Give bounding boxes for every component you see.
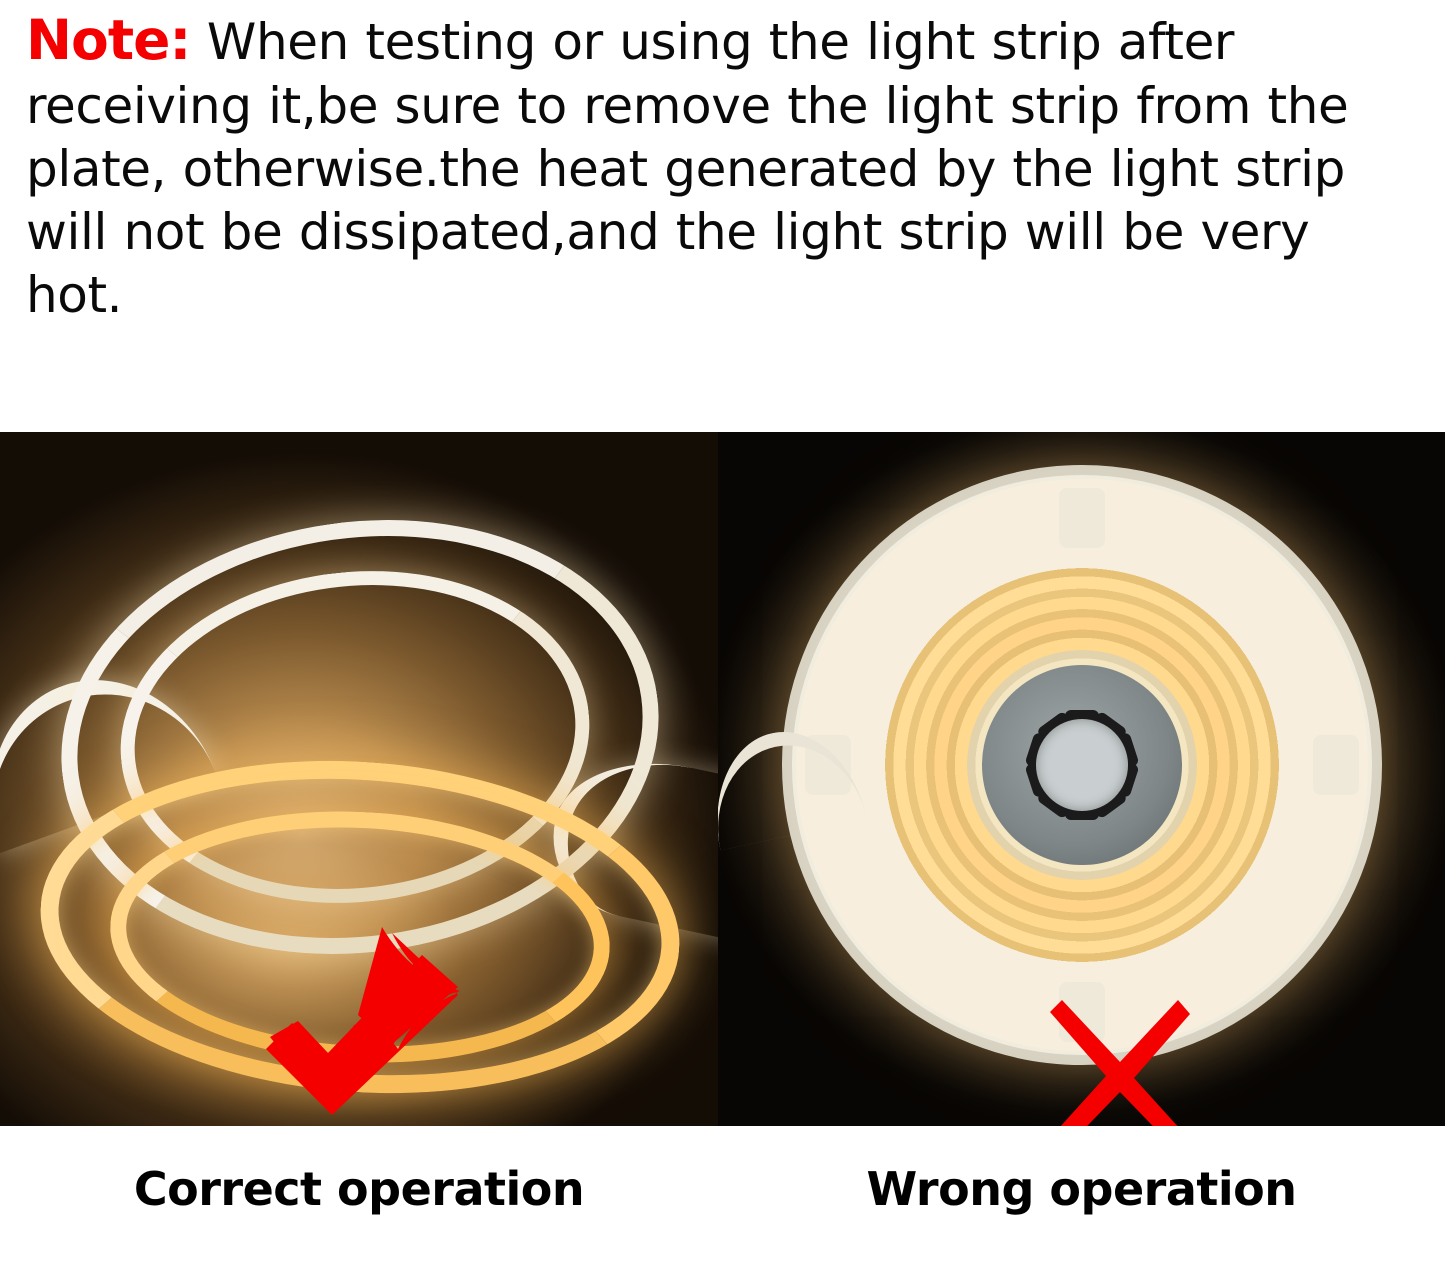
note-block: Note: When testing or using the light st…	[0, 0, 1445, 430]
photo-row	[0, 432, 1445, 1126]
caption-row: Correct operation Wrong operation	[0, 1126, 1445, 1273]
note-paragraph: Note: When testing or using the light st…	[26, 6, 1415, 327]
reel-hub	[982, 665, 1182, 865]
caption-wrong: Wrong operation	[718, 1126, 1445, 1273]
note-body: When testing or using the light strip af…	[26, 13, 1348, 324]
instruction-sheet: Note: When testing or using the light st…	[0, 0, 1445, 1273]
strip-reel	[792, 475, 1372, 1055]
reel-notch	[1313, 735, 1359, 795]
reel-hub-center	[1036, 719, 1128, 811]
reel-notch	[1059, 488, 1105, 548]
caption-correct: Correct operation	[0, 1126, 718, 1273]
check-mark-icon	[262, 925, 462, 1115]
note-label: Note:	[26, 8, 190, 72]
